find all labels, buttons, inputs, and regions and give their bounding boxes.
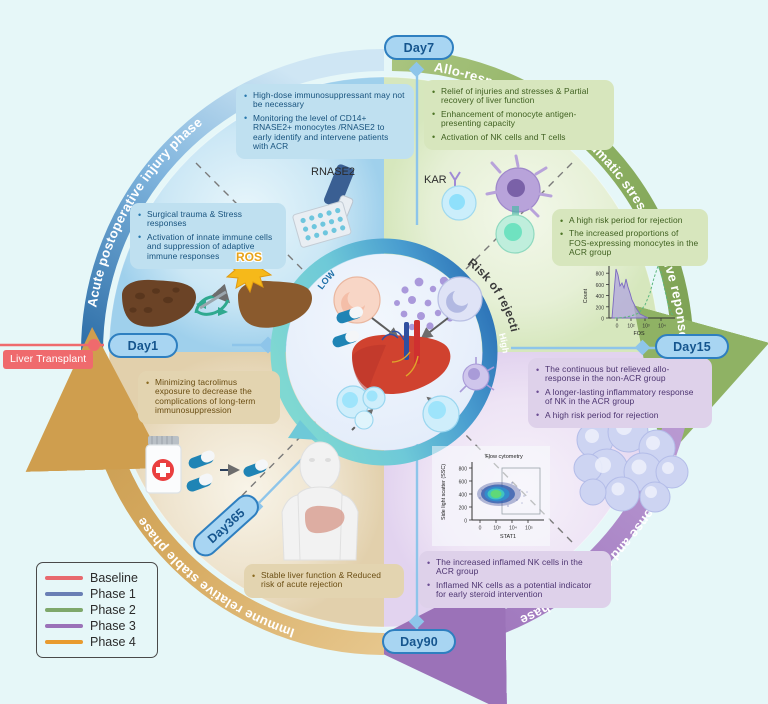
phase2-cell-illustration [442, 156, 551, 253]
flow-xtick-1e5: 10⁵ [525, 526, 533, 532]
hub-illustration [331, 277, 494, 432]
callout-bullet: A high risk period for rejection [560, 216, 699, 225]
figure-canvas: Acute postoperative injury phase Allo-re… [0, 0, 768, 704]
callout-bullet: Stable liver function & Reduced risk of … [252, 571, 395, 590]
liver-transplant-badge: Liver Transplant [3, 350, 93, 369]
day-marker-day90[interactable]: Day90 [382, 629, 456, 654]
fos-xtick-1e3: 10³ [642, 324, 650, 330]
callout-phase1-mechanism: Surgical trauma & Stress responses Activ… [130, 203, 286, 269]
fos-ytick-200: 200 [596, 305, 605, 311]
flow-ytick-800: 800 [459, 467, 468, 473]
callout-bullet: The continuous but relieved allo-respons… [536, 365, 703, 384]
callout-phase2-mechanism: Relief of injuries and stresses & Partia… [424, 80, 614, 150]
legend-item-phase1: Phase 1 [45, 586, 149, 602]
flow-ytick-600: 600 [459, 480, 468, 486]
day-marker-day15[interactable]: Day15 [655, 334, 729, 359]
callout-phase4-outcome: Stable liver function & Reduced risk of … [244, 564, 404, 598]
fos-series-nonacr [612, 269, 648, 318]
callout-bullet: A high risk period for rejection [536, 411, 703, 420]
fos-histogram-chart: 1000 800 600 400 200 0 Count 0 10² 10³ 1… [573, 256, 681, 336]
flow-xtick-0: 0 [479, 526, 482, 532]
flow-ytick-400: 400 [459, 493, 468, 499]
fos-ytick-400: 400 [596, 294, 605, 300]
day-marker-day7[interactable]: Day7 [384, 35, 454, 60]
flow-ytick-200: 200 [459, 506, 468, 512]
flow-xlabel: STAT1 [500, 534, 516, 540]
flow-xtick-1e3: 10³ [493, 526, 501, 532]
callout-bullet: Activation of NK cells and T cells [432, 133, 605, 142]
day-marker-label: Day365 [205, 505, 248, 546]
ros-label: ROS [236, 250, 262, 264]
callout-bullet: Inflamed NK cells as a potential indicat… [427, 581, 602, 600]
flow-title: Flow cytometry [485, 454, 523, 460]
legend-item-phase4: Phase 4 [45, 634, 149, 650]
legend-label: Phase 3 [90, 619, 136, 633]
fos-xlabel: FOS [633, 331, 644, 336]
callout-phase3-mechanism: The continuous but relieved allo-respons… [528, 358, 712, 428]
legend-label: Phase 1 [90, 587, 136, 601]
callout-bullet: The increased inflamed NK cells in the A… [427, 558, 602, 577]
phase-legend: Baseline Phase 1 Phase 2 Phase 3 Phase 4 [36, 562, 158, 658]
rnase2-label: RNASE2 [311, 166, 355, 178]
flow-cytometry-chart: Flow cytometry 800 600 400 200 0 Side li… [432, 446, 550, 546]
legend-label: Phase 2 [90, 603, 136, 617]
fos-ytick-600: 600 [596, 283, 605, 289]
legend-swatch [45, 608, 83, 613]
legend-label: Phase 4 [90, 635, 136, 649]
legend-label: Baseline [90, 571, 138, 585]
flow-ylabel: Side light scatter (SSC) [441, 464, 447, 520]
risk-high-label: High [497, 332, 511, 354]
legend-item-phase3: Phase 3 [45, 618, 149, 634]
legend-item-baseline: Baseline [45, 570, 149, 586]
fos-xtick-0: 0 [616, 324, 619, 330]
fos-xtick-1e4: 10⁴ [658, 324, 666, 330]
callout-phase4-clinical: Minimizing tacrolimus exposure to decrea… [138, 371, 280, 424]
callout-bullet: Surgical trauma & Stress responses [138, 210, 277, 229]
fos-ytick-800: 800 [596, 272, 605, 278]
legend-swatch [45, 592, 83, 597]
callout-bullet: Relief of injuries and stresses & Partia… [432, 87, 605, 106]
day-marker-label: Day7 [404, 41, 435, 55]
day-marker-label: Day90 [400, 635, 438, 649]
day-marker-label: Day1 [128, 339, 159, 353]
quadrant-wedges [109, 77, 659, 627]
callout-bullet: High-dose immunosuppressant may not be n… [244, 91, 405, 110]
legend-swatch [45, 624, 83, 629]
flow-xtick-1e4: 10⁴ [509, 526, 517, 532]
flow-ytick-0: 0 [464, 519, 467, 525]
day-marker-day365[interactable]: Day365 [188, 489, 264, 561]
fos-xtick-1e2: 10² [627, 324, 635, 330]
legend-swatch [45, 640, 83, 645]
callout-bullet: A longer-lasting inflammatory response o… [536, 388, 703, 407]
callout-phase2-clinical: A high risk period for rejection The inc… [552, 209, 708, 266]
legend-item-phase2: Phase 2 [45, 602, 149, 618]
callout-bullet: The increased proportions of FOS-express… [560, 229, 699, 257]
day-marker-day1[interactable]: Day1 [108, 333, 178, 358]
fos-ylabel: Count [583, 288, 589, 303]
callout-bullet: Minimizing tacrolimus exposure to decrea… [146, 378, 271, 416]
risk-low-label: LOW [316, 268, 338, 291]
callout-phase3-clinical: The increased inflamed NK cells in the A… [419, 551, 611, 608]
risk-of-rejection-ring [278, 246, 490, 458]
fos-ytick-0: 0 [601, 317, 604, 323]
kar-label: KAR [424, 174, 447, 186]
day-marker-label: Day15 [673, 340, 711, 354]
callout-phase1-clinical: High-dose immunosuppressant may not be n… [236, 84, 414, 159]
callout-bullet: Enhancement of monocyte antigen-presenti… [432, 110, 605, 129]
callout-bullet: Monitoring the level of CD14+ RNASE2+ mo… [244, 114, 405, 152]
legend-swatch [45, 576, 83, 581]
